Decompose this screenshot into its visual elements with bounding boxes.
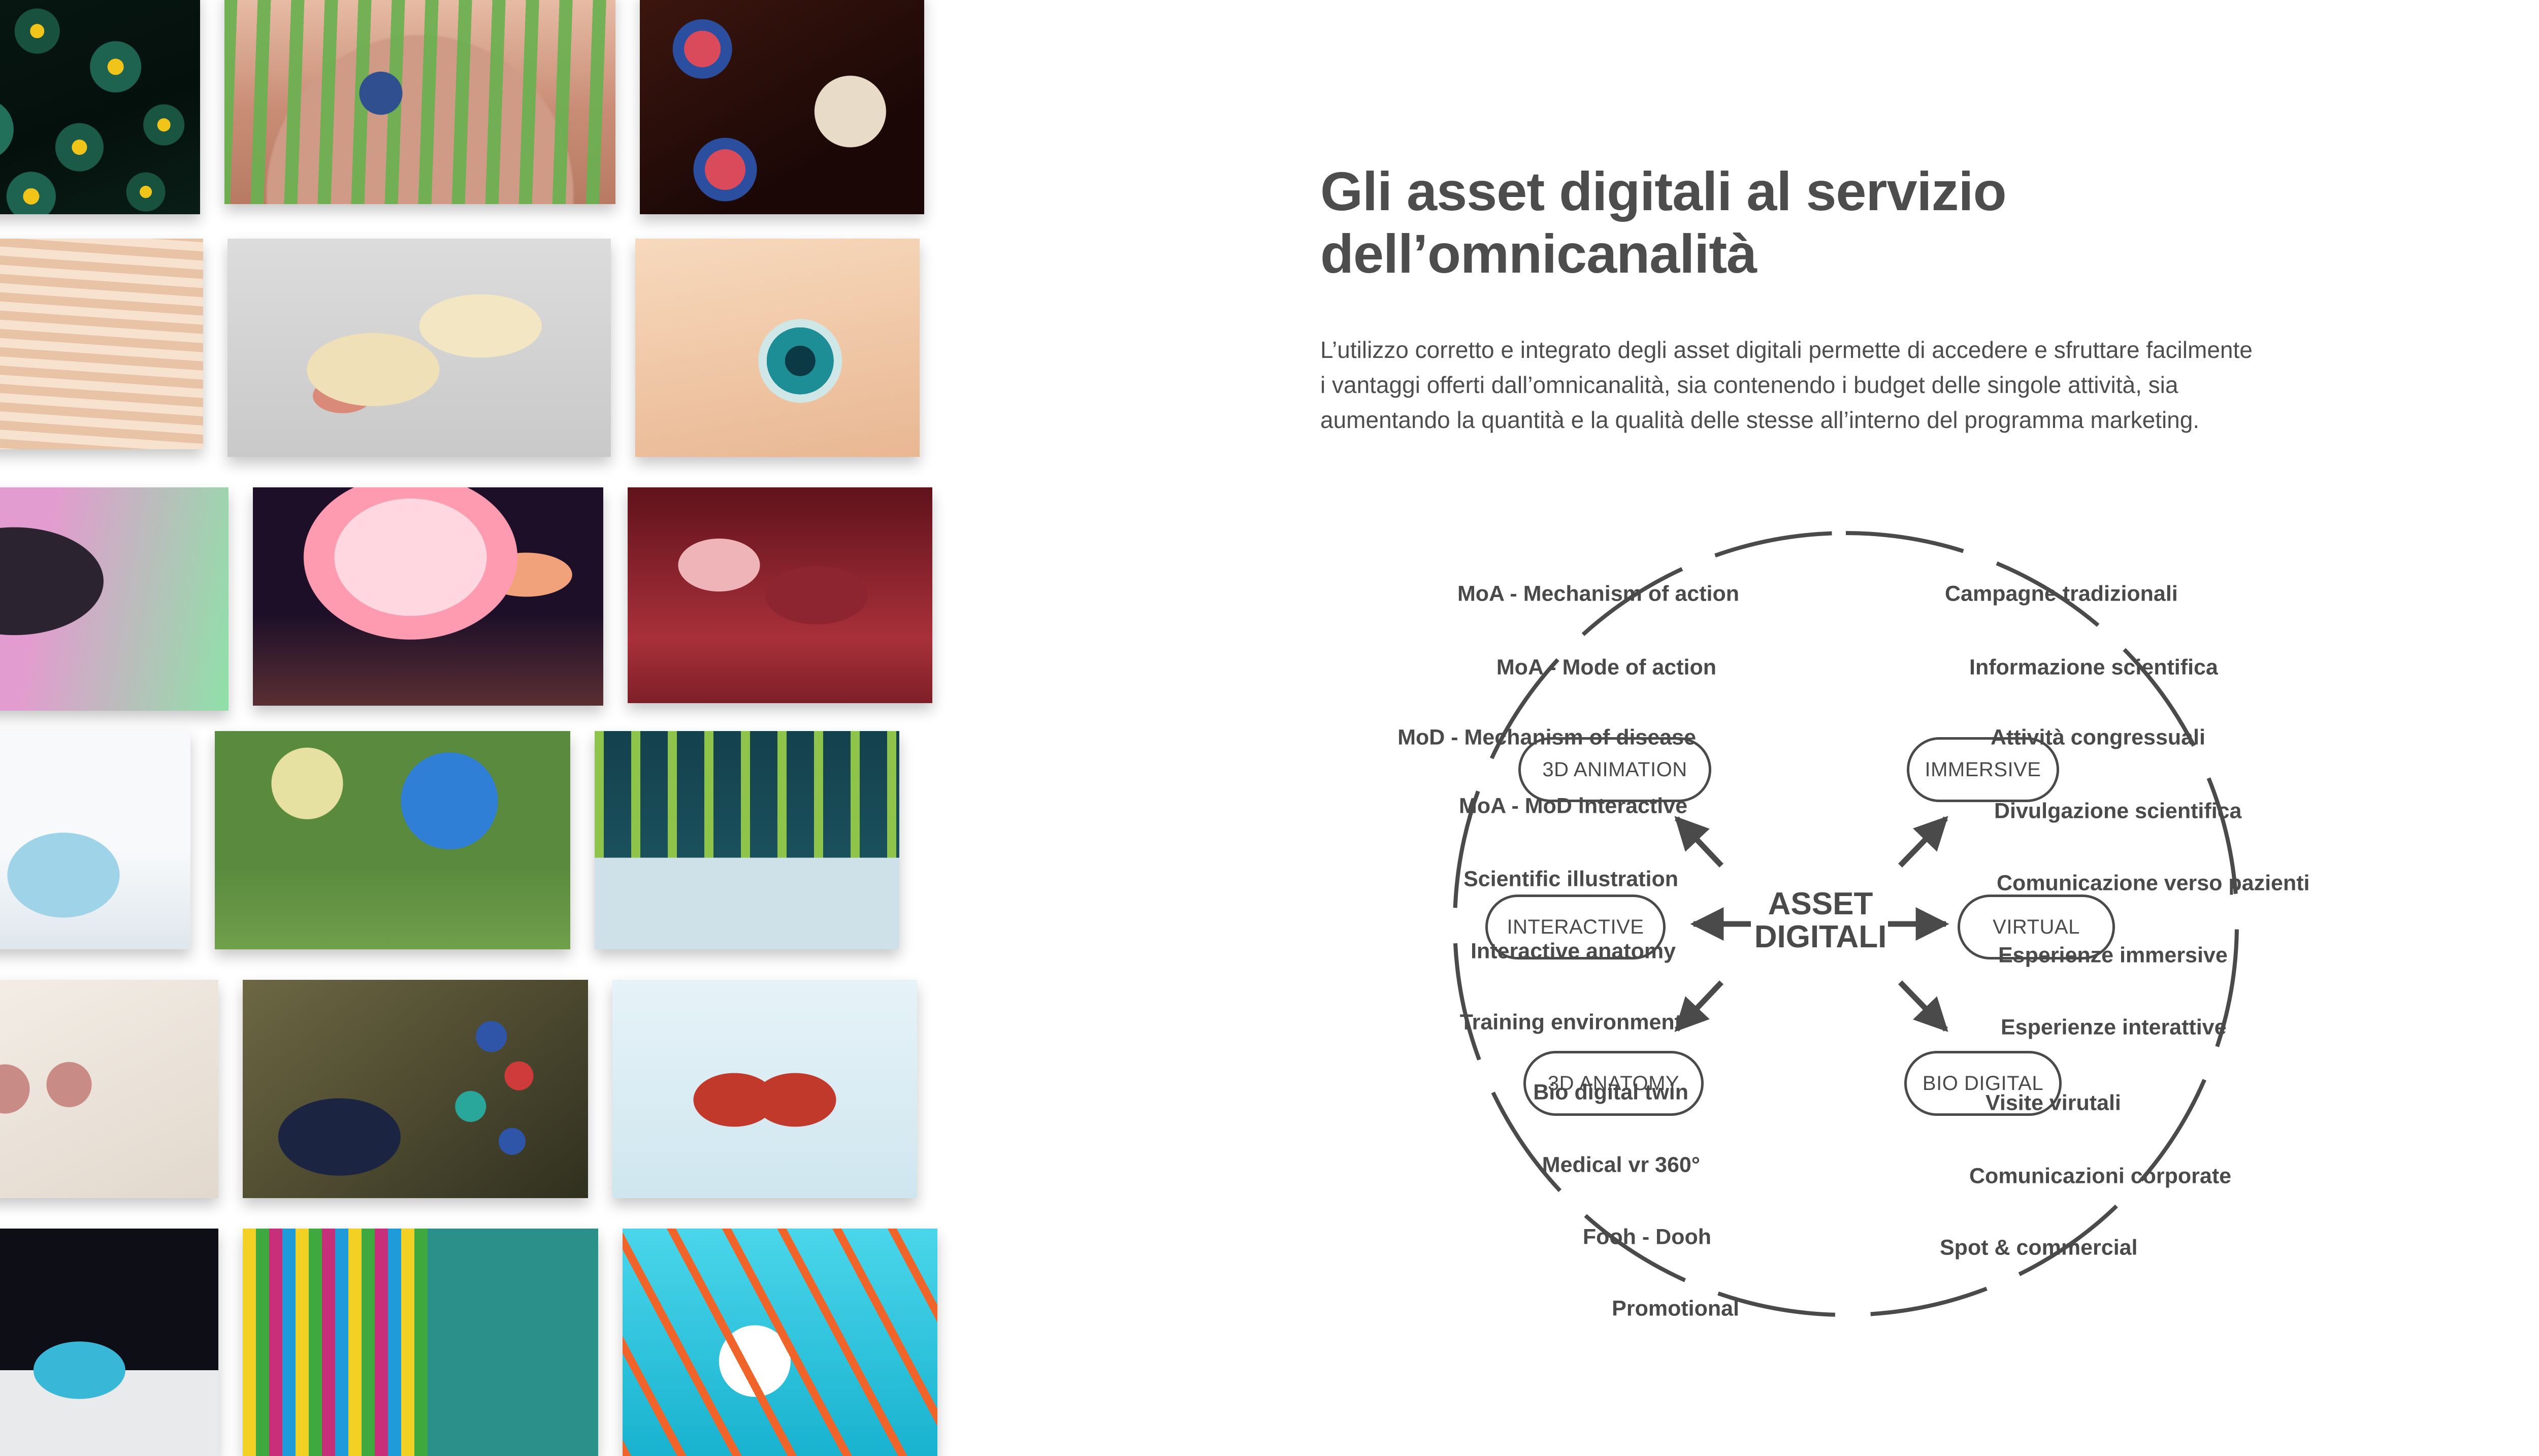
outer-label-right-8: Visite virutali — [1985, 1091, 2121, 1116]
collage-tile-vr-operating-room — [0, 1229, 218, 1456]
tile-art-accent — [595, 731, 899, 949]
outer-label-right-3: Attività congressuali — [1991, 725, 2205, 750]
collage-tile-blood-cells-lens — [640, 0, 924, 214]
arrow-to-immersive — [1900, 818, 1946, 866]
image-collage — [0, 0, 1244, 1456]
asset-digitali-diagram: ASSET DIGITALI 3D ANIMATION IMMERSIVE IN… — [1320, 0, 2539, 1456]
tile-art — [0, 0, 200, 214]
outer-label-right-4: Divulgazione scientifica — [1994, 799, 2241, 824]
outer-label-left-11: Promotional — [1612, 1297, 1739, 1321]
outer-label-left-5: Scientific illustration — [1463, 867, 1678, 892]
tile-art — [0, 487, 229, 711]
outer-label-left-3: MoD - Mechanism of disease — [1397, 725, 1696, 750]
core-line2: DIGITALI — [1744, 920, 1897, 953]
outer-label-left-6: Interactive anatomy — [1471, 939, 1676, 964]
tile-art-accent — [243, 1229, 598, 1456]
collage-row — [0, 0, 924, 214]
tile-art-accent — [243, 980, 588, 1198]
collage-tile-thorax-lungs-xray — [612, 980, 917, 1198]
outer-label-left-9: Medical vr 360° — [1542, 1153, 1700, 1178]
collage-tile-vr-blood-vessel-walk — [628, 487, 932, 703]
outer-label-left-1: MoA - Mechanism of action — [1457, 582, 1739, 607]
collage-row — [0, 1229, 937, 1456]
outer-label-right-5: Comunicazione verso pazienti — [1997, 871, 2309, 896]
collage-row — [0, 239, 920, 457]
collage-row — [0, 487, 932, 711]
outer-label-right-1: Campagne tradizionali — [1945, 582, 2178, 607]
arrow-to-bio-digital — [1900, 982, 1946, 1030]
tile-art — [628, 487, 932, 703]
collage-tile-cells-yellow-nuclei — [0, 0, 200, 214]
tile-art — [612, 980, 917, 1198]
tile-art — [0, 1229, 218, 1456]
collage-tile-vr-headset-user — [0, 487, 229, 711]
outer-label-left-8: Bio digital twin — [1533, 1080, 1688, 1105]
collage-tile-knee-joint-anatomy — [227, 239, 611, 457]
collage-tile-immersive-room-visitors — [253, 487, 603, 706]
outer-label-right-10: Spot & commercial — [1940, 1236, 2138, 1261]
tile-art — [623, 1229, 937, 1456]
arrow-to-3d-animation — [1677, 818, 1721, 866]
outer-label-left-2: MoA - Mode of action — [1496, 655, 1716, 680]
collage-row — [0, 731, 899, 949]
tile-art — [215, 731, 570, 949]
tile-art-accent — [0, 731, 190, 949]
tile-art-accent — [0, 980, 218, 1198]
tile-art — [0, 239, 203, 449]
collage-tile-couple-outdoors — [215, 731, 570, 949]
outer-label-right-9: Comunicazioni corporate — [1969, 1164, 2231, 1189]
collage-tile-gut-villi-microbiome — [224, 0, 615, 204]
core-line1: ASSET — [1744, 887, 1897, 920]
collage-tile-dna-helix-cyan — [623, 1229, 937, 1456]
arrow-to-3d-anatomy — [1677, 982, 1721, 1030]
diagram-core-label: ASSET DIGITALI — [1744, 887, 1897, 953]
outer-label-right-2: Informazione scientifica — [1969, 655, 2218, 680]
collage-tile-eye-surgery — [635, 239, 920, 457]
collage-tile-skin-cross-section — [0, 239, 203, 449]
collage-tile-cosmetic-products-bamboo — [595, 731, 899, 949]
collage-tile-clinic-lobby-poster — [243, 1229, 598, 1456]
tile-art — [640, 0, 924, 214]
collage-tile-tablet-brain-model — [0, 980, 218, 1198]
outer-label-right-7: Esperienze interattive — [2001, 1015, 2227, 1040]
tile-art — [227, 239, 611, 457]
outer-label-right-6: Esperienze immersive — [1998, 943, 2228, 968]
outer-label-left-4: MoA - MoD interactive — [1459, 794, 1687, 819]
outer-label-left-7: Training environment — [1460, 1010, 1682, 1035]
tile-art — [253, 487, 603, 706]
collage-row — [0, 980, 917, 1198]
collage-tile-presenter-molecule — [243, 980, 588, 1198]
collage-tile-ultrasound-patient — [0, 731, 190, 949]
tile-art-accent — [224, 0, 615, 204]
outer-label-left-10: Fooh - Dooh — [1583, 1225, 1711, 1250]
tile-art — [635, 239, 920, 457]
